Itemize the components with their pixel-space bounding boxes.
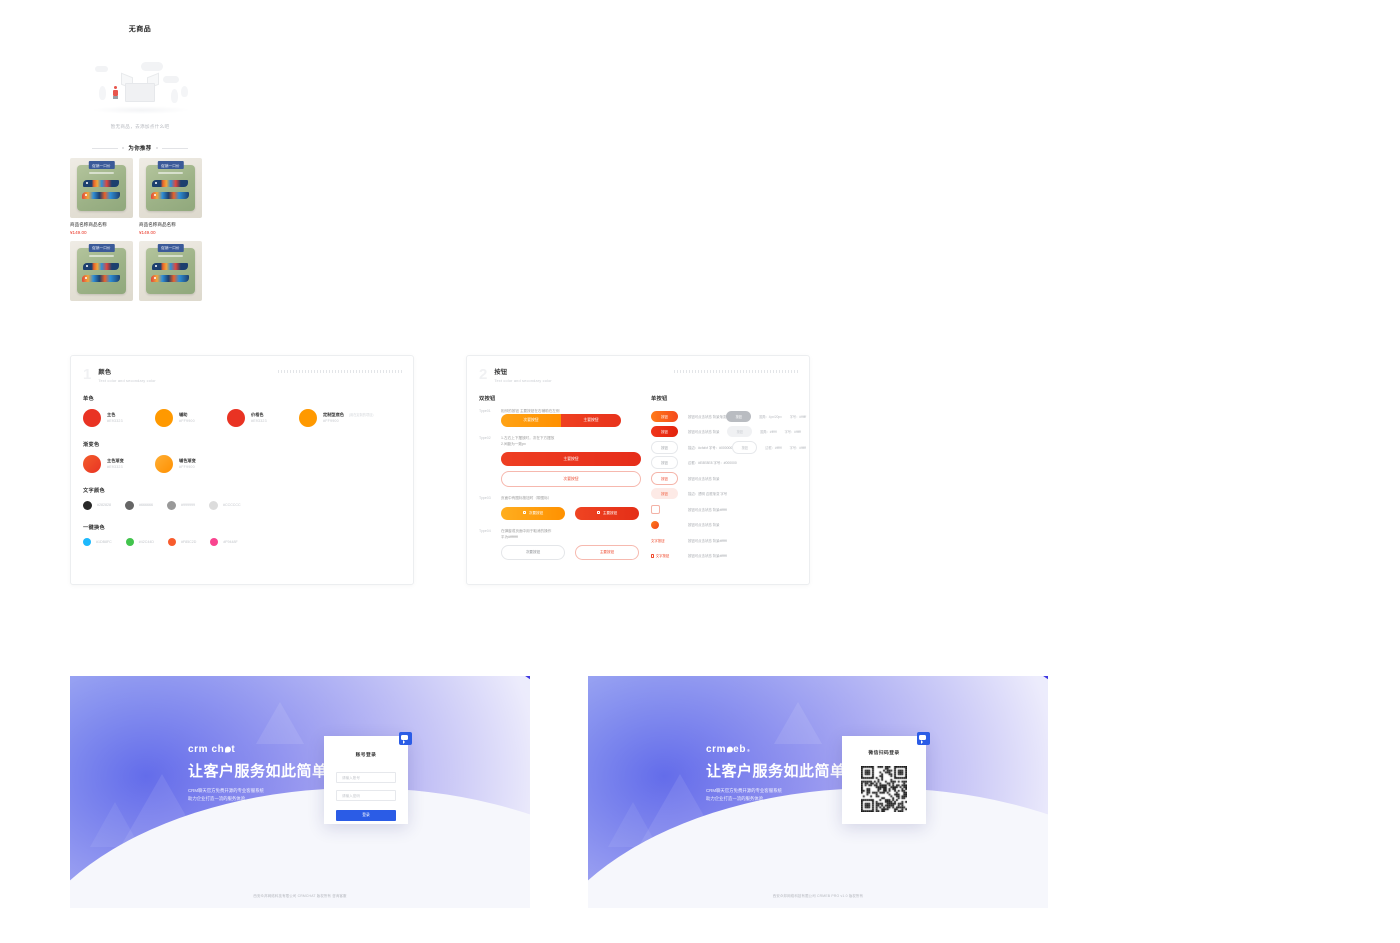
promo-badge: 促销一口价 [88, 161, 114, 169]
pill-button[interactable]: 按钮 [651, 488, 678, 499]
fish-eye [86, 182, 88, 184]
color-hex: #E93323 [107, 419, 123, 423]
color-hex: #282828 [97, 503, 111, 507]
color-dot [227, 409, 245, 427]
login-submit-button[interactable]: 登录 [336, 810, 396, 821]
product-price: ¥149.00 [70, 230, 133, 235]
login-hero: crmeb® 让客户服务如此简单 CRM聊天官方免费开源的专业客服系统 助力企业… [706, 744, 846, 803]
gradient-color-section: 渐变色 主色渐变 #E93323 辅色渐变 #FF9900 [71, 441, 413, 473]
button-meta: 字号：#ffffff [790, 414, 806, 419]
color-dot [168, 538, 176, 546]
product-image[interactable]: 促销一口价 [70, 241, 133, 301]
color-dot [83, 538, 91, 546]
color-swatch[interactable]: #666666 [125, 501, 153, 510]
color-dot [155, 455, 173, 473]
person-legs [113, 96, 118, 99]
promo-badge: 促销一口价 [88, 244, 114, 252]
page-title: 无商品 [70, 24, 210, 34]
logo-text: crm [706, 744, 726, 755]
button-row: 文字按钮 按钮可点击状态 背景#ffffff [651, 548, 801, 564]
text-color-row: #282828 #666666 #999999 #CCCCCC [71, 501, 413, 510]
product-price: ¥149.00 [139, 230, 202, 235]
fish-eye [155, 182, 157, 184]
hero-subline-2: 助力企业打造一流的服务体验 [188, 795, 328, 802]
color-hex: #666666 [139, 503, 153, 507]
qr-login-card: 微信扫码登录 [842, 736, 926, 824]
password-input[interactable]: 请输入密码 [336, 790, 396, 801]
dotted-rule [674, 370, 799, 373]
pill-button[interactable]: 按钮 [651, 456, 678, 469]
color-dot [167, 501, 176, 510]
section-number: 1 [83, 367, 91, 382]
divider-dot [156, 147, 158, 149]
pillow-graphic [146, 248, 195, 294]
button-desc: 按钮可点击状态 背景 [688, 476, 719, 481]
button-row: 按钮可点击状态 背景 [651, 517, 801, 533]
account-switch-button[interactable] [917, 732, 930, 745]
button-label: 主要按钮 [603, 511, 617, 515]
text-link-icon-button[interactable]: 文字按钮 [651, 553, 678, 558]
login-card-title: 账号登录 [324, 751, 408, 758]
single-button-label: 单按钮 [651, 395, 801, 402]
mini-pill-button[interactable]: 按钮 [727, 426, 752, 437]
type-desc: 页面中有图标按钮时（带图标） [501, 496, 551, 502]
button-desc: 按钮可点击状态 背景#ffffff [688, 538, 727, 543]
button-label: 文字按钮 [656, 554, 670, 558]
color-hex: #F9448F [223, 540, 237, 544]
fish-graphic [151, 275, 189, 282]
color-dot [83, 501, 92, 510]
pill-button[interactable]: 按钮 [651, 426, 678, 437]
button-meta: 圆角：4px/20px [759, 414, 782, 419]
color-name: 价格色 [251, 412, 267, 418]
mini-pill-button[interactable]: 按钮 [732, 441, 757, 454]
theme-color-section: 一键换色 #1DB8FC #42C44D #F85C2D #F9448F [71, 524, 413, 546]
product-card[interactable]: 促销一口价 商品名称商品名称 ¥149.00 [70, 158, 133, 235]
color-name: 辅色渐变 [179, 458, 196, 464]
section-subtitle: Text color and secondary color [494, 379, 552, 383]
promo-badge: 促销一口价 [157, 244, 183, 252]
gradient-swatch-row: 主色渐变 #E93323 辅色渐变 #FF9900 [71, 455, 413, 473]
color-dot [126, 538, 134, 546]
button-group: Type01 相邻的按钮 主要按钮在右辅助在左侧 次要按钮 主要按钮 [479, 409, 651, 428]
qr-switch-button[interactable] [399, 732, 412, 745]
ghost-button-pair: 次要按钮 主要按钮 [501, 545, 651, 560]
section-subtitle: Text color and secondary color [98, 379, 156, 383]
product-card[interactable]: 促销一口价 商品名称商品名称 ¥149.00 [139, 158, 202, 235]
crmchat-logo: crm cht [188, 744, 328, 755]
color-hex: #FF9900 [323, 419, 373, 423]
person-head [114, 86, 117, 89]
type-desc: 1.左右上下摆放时，次在下方摆放 2.间距为一致px [501, 436, 554, 447]
type-label: Type02 [479, 436, 501, 447]
secondary-button[interactable]: 次要按钮 [501, 545, 565, 560]
pill-button[interactable]: 按钮 [651, 472, 678, 485]
logo-registered-icon: ® [747, 748, 751, 753]
product-name: 商品名称商品名称 [70, 222, 133, 228]
color-name: 辅助 [179, 412, 195, 418]
page-root: 无商品 暂无商品，去添加点什么吧 为你推荐 [0, 0, 1400, 943]
button-spec-card: 2 按钮 Text color and secondary color 双按钮 … [466, 355, 810, 585]
theme-color-row: #1DB8FC #42C44D #F85C2D #F9448F [71, 538, 413, 546]
color-dot [299, 409, 317, 427]
box-body [125, 83, 155, 102]
fish-eye [86, 265, 88, 267]
color-name: 主色 [107, 412, 115, 418]
pillow-label [89, 172, 114, 174]
color-swatch[interactable]: #42C44D [126, 538, 154, 546]
cloud-shape [95, 66, 108, 72]
color-hex: #1DB8FC [96, 540, 112, 544]
segmented-button-pair: 次要按钮 主要按钮 [501, 414, 621, 427]
pillow-label [158, 255, 183, 257]
type-label: Type04 [479, 529, 501, 540]
primary-button[interactable]: 主要按钮 [575, 545, 639, 560]
square-icon [523, 511, 527, 515]
product-card[interactable]: 促销一口价 [70, 241, 133, 301]
text-color-section: 文字颜色 #282828 #666666 #999999 #CCCCCC [71, 487, 413, 510]
theme-color-label: 一键换色 [83, 524, 413, 531]
single-button-column: 单按钮 按钮 按钮可点击状态 背景渐变 按钮 圆角：4px/20px 字号：#f… [651, 395, 801, 570]
button-desc: 边框：#E8E8E8 字号：#000000 [688, 460, 737, 465]
button-desc: 按钮可点击状态 背景 [688, 429, 719, 434]
fish-graphic [82, 275, 120, 282]
tree-shape [99, 86, 106, 100]
button-meta: 圆角：#ffffff [760, 429, 776, 434]
account-login-screen: crm cht 让客户服务如此简单 CRM聊天官方免费开源的专业客服系统 助力企… [70, 676, 530, 908]
cloud-shape [141, 62, 163, 71]
color-swatch[interactable]: #282828 [83, 501, 111, 510]
section-number: 2 [479, 367, 487, 382]
qr-code[interactable] [861, 766, 907, 812]
button-desc: 按钮可点击状态 背景#ffffff [688, 553, 727, 558]
color-hex: #42C44D [139, 540, 154, 544]
fish-graphic [151, 192, 189, 199]
color-dot [125, 501, 134, 510]
color-dot [83, 455, 101, 473]
color-hex: #FF9900 [179, 419, 195, 423]
circle-icon-button[interactable] [651, 521, 659, 529]
pill-button[interactable]: 按钮 [651, 441, 678, 454]
text-color-label: 文字颜色 [83, 487, 413, 494]
fish-eye [154, 277, 156, 279]
mini-pill-button[interactable]: 按钮 [726, 411, 751, 422]
secondary-button[interactable]: 次要按钮 [501, 471, 641, 487]
button-desc: 描边：透明 边框渐变 字号 [688, 491, 727, 496]
open-box-icon [121, 73, 159, 103]
qr-card-title: 微信扫码登录 [842, 749, 926, 756]
tree-shape [181, 86, 188, 97]
pillow-graphic [146, 165, 195, 211]
color-swatch[interactable]: 价格色 #E93323 [227, 409, 299, 427]
primary-icon-button[interactable]: 主要按钮 [575, 507, 639, 520]
hero-subline-1: CRM聊天官方免费开源的专业客服系统 [706, 787, 846, 794]
hero-subline-1: CRM聊天官方免费开源的专业客服系统 [188, 787, 328, 794]
button-row: 按钮 按钮可点击状态 背景渐变 按钮 圆角：4px/20px 字号：#fffff… [651, 409, 801, 425]
hero-headline: 让客户服务如此简单 [706, 760, 846, 781]
color-note: (用在定制的项目) [349, 412, 373, 417]
empty-state-text: 暂无商品，去添加点什么吧 [70, 124, 210, 130]
color-dot [83, 409, 101, 427]
section-title: 按钮 [494, 367, 552, 376]
product-image[interactable]: 促销一口价 [139, 241, 202, 301]
color-hex: #999999 [181, 503, 195, 507]
tree-shape [171, 89, 178, 103]
color-name: 定制型底色 [323, 412, 344, 418]
square-icon-button[interactable] [651, 505, 660, 514]
chat-bubble-icon [919, 735, 926, 740]
recommend-divider: 为你推荐 [70, 144, 210, 152]
button-meta: 字号：#ffffff [785, 429, 801, 434]
product-card[interactable]: 促销一口价 [139, 241, 202, 301]
color-swatch[interactable]: 定制型底色 (用在定制的项目) #FF9900 [299, 409, 373, 427]
pill-button[interactable]: 按钮 [651, 411, 678, 422]
crmeb-logo: crmeb® [706, 744, 846, 755]
type-label: Type03 [479, 496, 501, 502]
button-row: 按钮 按钮可点击状态 背景 [651, 471, 801, 487]
button-row: 文字按钮 按钮可点击状态 背景#ffffff [651, 533, 801, 549]
color-swatch[interactable]: #CCCCCC [209, 501, 241, 510]
button-desc: 按钮可点击状态 背景#ffffff [688, 507, 727, 512]
color-swatch[interactable]: #F85C2D [168, 538, 196, 546]
qr-canvas [861, 766, 907, 812]
color-swatch[interactable]: 主色渐变 #E93323 [83, 455, 155, 473]
button-meta: 字号：#ffffff [790, 445, 806, 450]
mobile-preview: 无商品 暂无商品，去添加点什么吧 为你推荐 [70, 24, 210, 301]
button-group: Type02 1.左右上下摆放时，次在下方摆放 2.间距为一致px 主要按钮 次… [479, 436, 651, 487]
color-hex: #CCCCCC [223, 503, 241, 507]
color-hex: #E93323 [251, 419, 267, 423]
type-desc: 在弹窗或页面中用于取消的操作 平为#ffffffff [501, 529, 551, 540]
color-swatch[interactable]: 辅助 #FF9900 [155, 409, 227, 427]
type-label: Type01 [479, 409, 501, 415]
double-button-column: 双按钮 Type01 相邻的按钮 主要按钮在右辅助在左侧 次要按钮 主要按钮 T… [479, 395, 651, 570]
fish-graphic [152, 180, 188, 187]
divider-dot [122, 147, 124, 149]
login-footer: 西安众邦网络科技有限公司 CRMCHAT 版权所有 咨询客服 [70, 893, 530, 898]
hero-subline-2: 助力企业打造一流的服务体验 [706, 795, 846, 802]
square-icon [597, 511, 601, 515]
secondary-button[interactable]: 次要按钮 [501, 414, 561, 427]
divider-line [92, 148, 118, 149]
text-link-button[interactable]: 文字按钮 [651, 538, 678, 543]
logo-text: crm ch [188, 744, 224, 755]
fish-graphic [83, 180, 119, 187]
button-columns: 双按钮 Type01 相邻的按钮 主要按钮在右辅助在左侧 次要按钮 主要按钮 T… [467, 395, 809, 570]
icon-button-pair: 次要按钮 主要按钮 [501, 507, 651, 520]
logo-text-suffix: eb [733, 744, 746, 755]
product-name: 商品名称商品名称 [139, 222, 202, 228]
solid-swatch-row: 主色 #E93323 辅助 #FF9900 价格色 [71, 409, 413, 427]
product-image[interactable]: 促销一口价 [70, 158, 133, 218]
pillow-label [89, 255, 114, 257]
chat-bubble-icon [401, 735, 408, 740]
pillow-label [158, 172, 183, 174]
fish-eye [85, 277, 87, 279]
fish-graphic [83, 263, 119, 270]
fish-graphic [82, 192, 120, 199]
button-meta: 边框：#ffffff [765, 445, 781, 450]
card-header: 1 颜色 Text color and secondary color [71, 356, 413, 383]
button-group: Type03 页面中有图标按钮时（带图标） 次要按钮 主要按钮 [479, 496, 651, 520]
button-row: 按钮 边框：#E8E8E8 字号：#000000 [651, 455, 801, 471]
pillow-graphic [77, 165, 126, 211]
primary-button[interactable]: 主要按钮 [561, 414, 621, 427]
fish-eye [155, 265, 157, 267]
login-hero: crm cht 让客户服务如此简单 CRM聊天官方免费开源的专业客服系统 助力企… [188, 744, 328, 803]
secondary-icon-button[interactable]: 次要按钮 [501, 507, 565, 520]
button-label: 次要按钮 [529, 511, 543, 515]
promo-badge: 促销一口价 [157, 161, 183, 169]
color-dot [155, 409, 173, 427]
button-row: 按钮可点击状态 背景#ffffff [651, 502, 801, 518]
fish-eye [154, 194, 156, 196]
color-swatch[interactable]: 辅色渐变 #FF9900 [155, 455, 227, 473]
card-header: 2 按钮 Text color and secondary color [467, 356, 809, 383]
color-hex: #F85C2D [181, 540, 196, 544]
color-name: 主色渐变 [107, 458, 124, 464]
primary-button[interactable]: 主要按钮 [501, 452, 641, 466]
username-input[interactable]: 请输入账号 [336, 772, 396, 783]
color-swatch[interactable]: #F9448F [210, 538, 237, 546]
product-image[interactable]: 促销一口价 [139, 158, 202, 218]
button-group: Type04 在弹窗或页面中用于取消的操作 平为#ffffffff 次要按钮 主… [479, 529, 651, 560]
button-row: 按钮 描边：#cfcfcf 字号：#000000 按钮 边框：#ffffff 字… [651, 440, 801, 456]
solid-color-section: 单色 主色 #E93323 辅助 #FF9900 [71, 395, 413, 427]
hero-headline: 让客户服务如此简单 [188, 760, 328, 781]
logo-blob-icon [225, 747, 231, 753]
divider-line [162, 148, 188, 149]
color-swatch[interactable]: #999999 [167, 501, 195, 510]
product-grid: 促销一口价 商品名称商品名称 ¥149.00 促销一口价 商品名称商品名称 ¥1… [70, 158, 210, 301]
ground-shadow [93, 106, 189, 114]
gradient-color-label: 渐变色 [83, 441, 413, 448]
color-dot [210, 538, 218, 546]
color-hex: #E93323 [107, 465, 124, 469]
person-icon [113, 86, 118, 98]
recommend-label: 为你推荐 [128, 144, 151, 152]
qr-login-screen: crmeb® 让客户服务如此简单 CRM聊天官方免费开源的专业客服系统 助力企业… [588, 676, 1048, 908]
button-row: 按钮 描边：透明 边框渐变 字号 [651, 486, 801, 502]
fish-eye [85, 194, 87, 196]
login-card: 账号登录 请输入账号 请输入密码 登录 [324, 736, 408, 824]
fish-graphic [152, 263, 188, 270]
section-title: 颜色 [98, 367, 156, 376]
color-swatch[interactable]: #1DB8FC [83, 538, 112, 546]
color-swatch[interactable]: 主色 #E93323 [83, 409, 155, 427]
color-dot [209, 501, 218, 510]
square-icon [651, 554, 654, 557]
pillow-graphic [77, 248, 126, 294]
empty-state-illustration [85, 56, 195, 118]
login-footer: 西安众邦网络科技有限公司 CRMEB PRO v1.0 版权所有 [588, 893, 1048, 898]
color-hex: #FF9900 [179, 465, 196, 469]
logo-blob-icon [727, 747, 733, 753]
double-button-label: 双按钮 [479, 395, 651, 402]
button-desc: 描边：#cfcfcf 字号：#000000 [688, 445, 732, 450]
color-spec-card: 1 颜色 Text color and secondary color 单色 主… [70, 355, 414, 585]
button-row: 按钮 按钮可点击状态 背景 按钮 圆角：#ffffff 字号：#ffffff [651, 424, 801, 440]
button-desc: 按钮可点击状态 背景 [688, 522, 719, 527]
button-desc: 按钮可点击状态 背景渐变 [688, 414, 726, 419]
cloud-shape [163, 76, 179, 83]
dotted-rule [278, 370, 403, 373]
logo-text-suffix: t [231, 744, 235, 755]
solid-color-label: 单色 [83, 395, 413, 402]
